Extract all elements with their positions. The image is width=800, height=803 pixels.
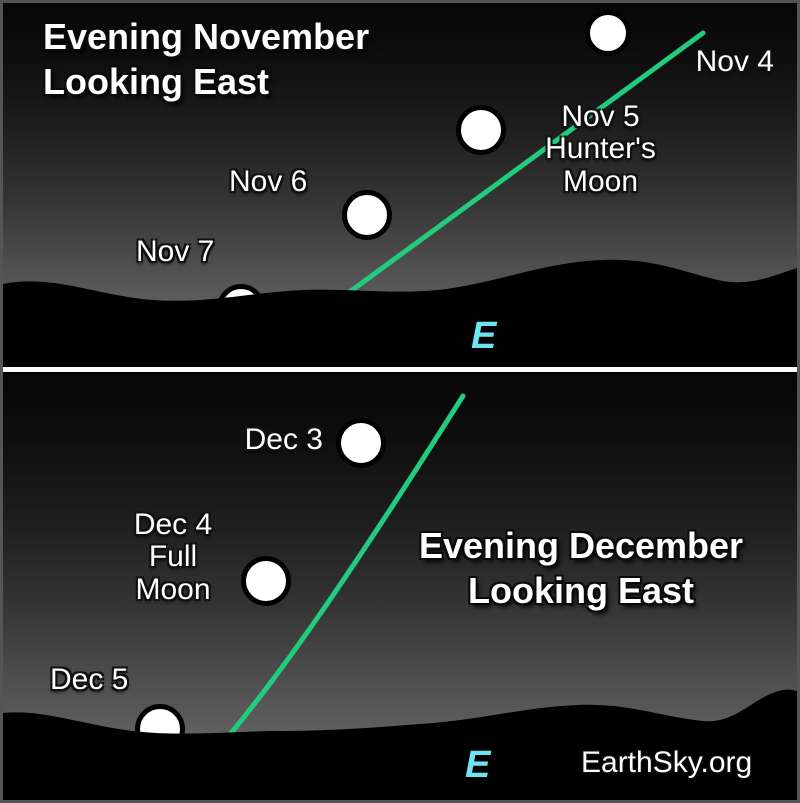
title-line-2: Looking East — [468, 570, 694, 611]
panel-december: Evening DecemberLooking East Dec 3 Dec 4… — [3, 374, 797, 800]
label-dec-5: Dec 5 — [50, 664, 128, 696]
sky-chart: Evening NovemberLooking East Nov 4 Nov 5… — [0, 0, 800, 803]
title-line-1: Evening November — [43, 16, 369, 57]
moon-nov-5 — [456, 105, 506, 155]
panel-title-december: Evening DecemberLooking East — [381, 524, 781, 613]
panel-november: Evening NovemberLooking East Nov 4 Nov 5… — [3, 3, 797, 366]
compass-east-december: E — [465, 744, 490, 787]
label-nov-5: Nov 5 Hunter's Moon — [513, 101, 688, 198]
moon-dec-4 — [241, 556, 291, 606]
horizon-november — [3, 246, 797, 366]
panel-title-november: Evening NovemberLooking East — [43, 15, 369, 104]
panel-divider — [3, 367, 797, 372]
label-dec-3: Dec 3 — [143, 424, 323, 456]
compass-east-november: E — [471, 315, 496, 358]
label-nov-4: Nov 4 — [609, 46, 774, 78]
moon-nov-6 — [342, 190, 392, 240]
label-nov-7: Nov 7 — [136, 236, 214, 268]
moon-dec-3 — [336, 418, 386, 468]
credit-earthsky: EarthSky.org — [581, 746, 752, 780]
label-nov-6: Nov 6 — [229, 166, 307, 198]
title-line-1: Evening December — [419, 525, 743, 566]
title-line-2: Looking East — [43, 61, 269, 102]
label-dec-4: Dec 4 Full Moon — [113, 509, 233, 606]
